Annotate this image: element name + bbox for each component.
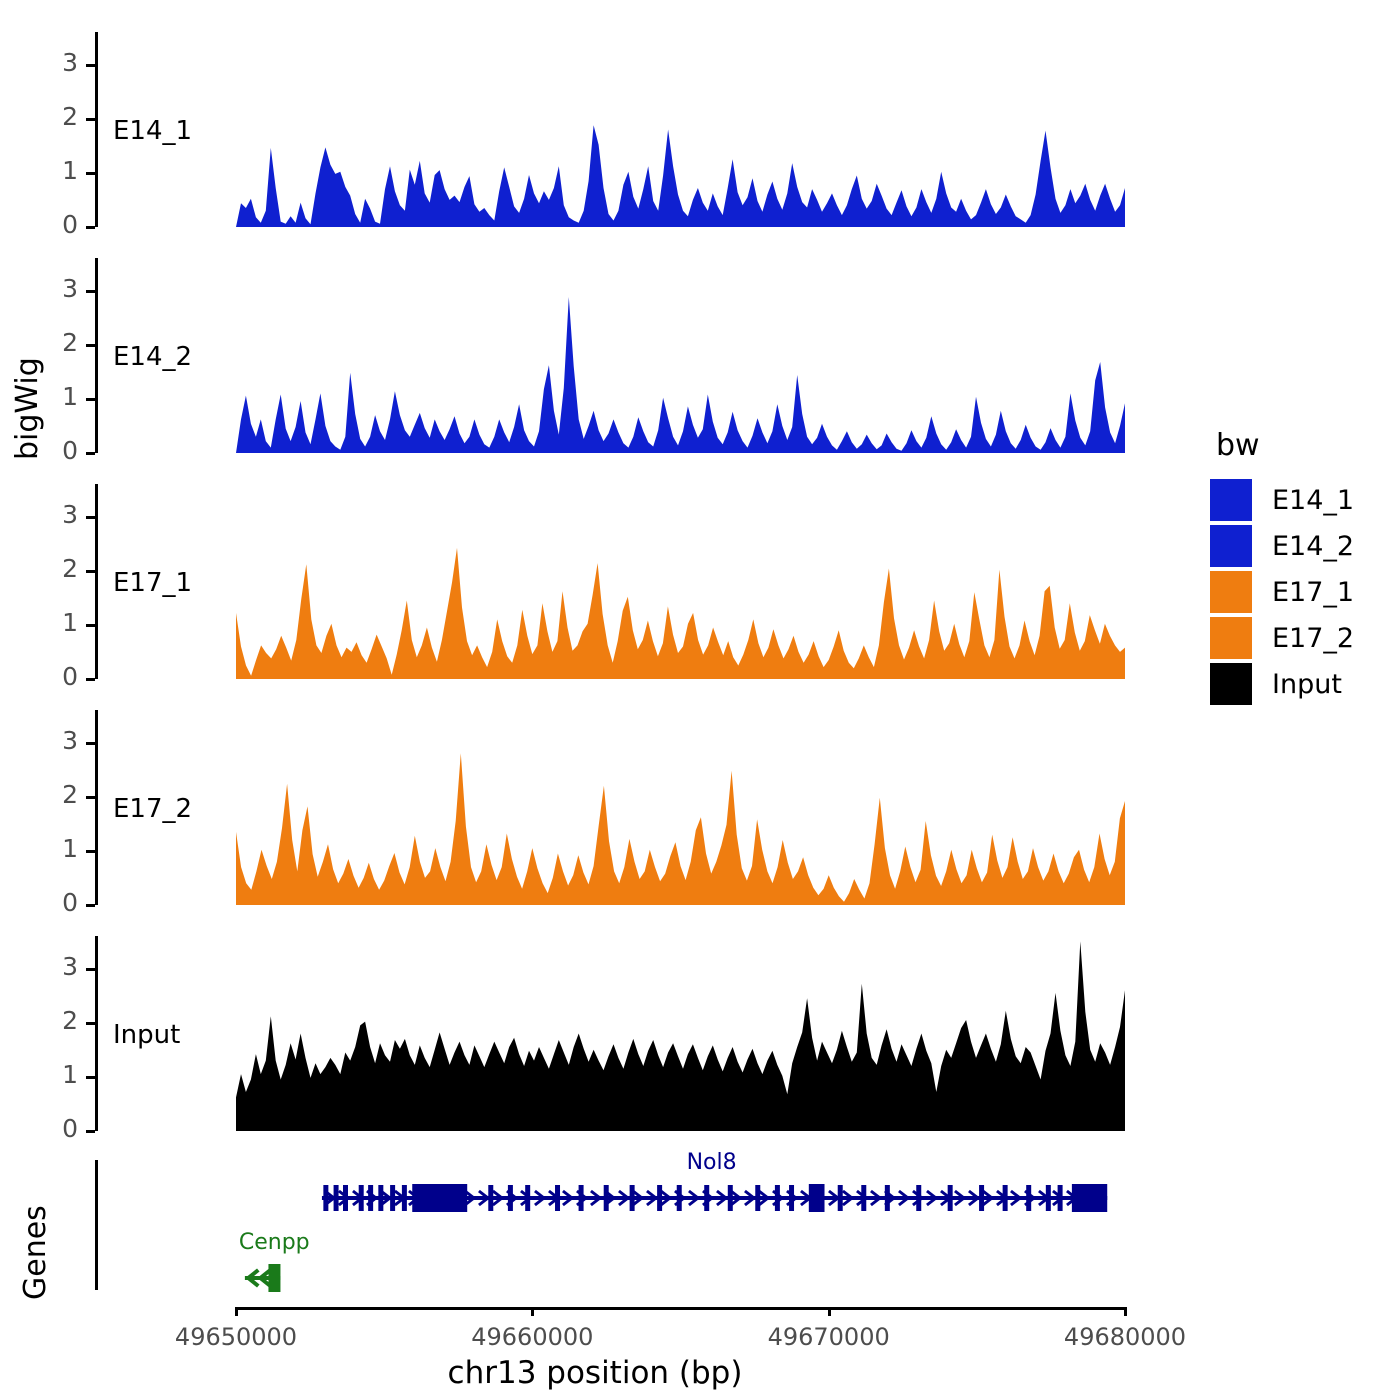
gene-strand-arrow-icon (745, 1191, 754, 1205)
gene-strand-arrow-icon (1081, 1191, 1090, 1205)
gene-strand-arrow-icon (941, 1191, 950, 1205)
gene-strand-arrow-icon (717, 1191, 726, 1205)
gene-strand-arrow-icon (633, 1191, 642, 1205)
legend-title: bw (1216, 428, 1390, 463)
y-tick-mark (86, 904, 95, 907)
x-tick-mark (828, 1307, 831, 1316)
y-tick-label: 0 (33, 662, 78, 691)
y-tick-label: 2 (33, 780, 78, 809)
x-tick-label: 49650000 (136, 1323, 336, 1351)
y-tick-mark (86, 516, 95, 519)
gene-exon-small (390, 1185, 395, 1211)
track-label-e17_2: E17_2 (113, 794, 192, 824)
gene-strand-arrow-icon (248, 1270, 258, 1286)
gene-strand-arrow-icon (1053, 1191, 1062, 1205)
gene-axis-line (95, 1160, 98, 1290)
gene-strand-arrow-icon (437, 1191, 446, 1205)
y-tick-mark (86, 398, 95, 401)
legend-item-e17_2[interactable]: E17_2 (1210, 615, 1390, 661)
gene-strand-arrow-icon (507, 1191, 516, 1205)
track-label-e17_1: E17_1 (113, 568, 192, 598)
gene-strand-arrow-icon (661, 1191, 670, 1205)
gene-strand-arrow-icon (1039, 1191, 1048, 1205)
legend-color-swatch (1210, 479, 1252, 521)
gene-strand-arrow-icon (885, 1191, 894, 1205)
y-tick-mark (86, 968, 95, 971)
x-tick-mark (235, 1307, 238, 1316)
track-label-e14_2: E14_2 (113, 342, 192, 372)
legend-item-e17_1[interactable]: E17_1 (1210, 569, 1390, 615)
genes-axis-label: Genes (18, 1205, 53, 1300)
gene-strand-arrow-icon (367, 1191, 376, 1205)
y-axis-line-e17_2 (95, 710, 98, 905)
gene-strand-arrow-icon (843, 1191, 852, 1205)
gene-exon-block (412, 1184, 467, 1212)
y-tick-label: 0 (33, 210, 78, 239)
gene-strand-arrow-icon (997, 1191, 1006, 1205)
gene-strand-arrow-icon (353, 1191, 362, 1205)
gene-strand-arrow-icon (423, 1191, 432, 1205)
y-tick-label: 3 (33, 48, 78, 77)
y-tick-label: 1 (33, 156, 78, 185)
gene-exon-small (704, 1185, 709, 1211)
gene-strand-arrow-icon (479, 1191, 488, 1205)
y-tick-label: 2 (33, 554, 78, 583)
gene-strand-arrow-icon (409, 1191, 418, 1205)
gene-exon-small (775, 1185, 780, 1211)
y-tick-mark (86, 290, 95, 293)
legend-item-label: Input (1272, 669, 1342, 700)
gene-strand-arrow-icon (675, 1191, 684, 1205)
y-tick-label: 1 (33, 1060, 78, 1089)
gene-strand-arrow-icon (857, 1191, 866, 1205)
y-axis-line-e17_1 (95, 484, 98, 679)
gene-strand-arrow-icon (465, 1191, 474, 1205)
gene-exon-small (508, 1185, 513, 1211)
y-tick-mark (86, 624, 95, 627)
legend: bw E14_1E14_2E17_1E17_2Input (1210, 428, 1390, 707)
gene-exon-block (809, 1184, 825, 1212)
gene-exon-small (343, 1185, 348, 1211)
gene-strand-arrow-icon (731, 1191, 740, 1205)
gene-strand-arrow-icon (605, 1191, 614, 1205)
y-tick-label: 0 (33, 888, 78, 917)
track-area-input (0, 0, 1400, 1400)
y-tick-mark (86, 172, 95, 175)
gene-strand-arrow-icon (689, 1191, 698, 1205)
legend-item-e14_1[interactable]: E14_1 (1210, 477, 1390, 523)
y-tick-label: 0 (33, 1114, 78, 1143)
y-tick-label: 1 (33, 834, 78, 863)
gene-exon-small (861, 1185, 866, 1211)
gene-strand-arrow-icon (535, 1191, 544, 1205)
track-area-fill (236, 548, 1125, 679)
gene-exon-small (579, 1185, 584, 1211)
gene-strand-arrow-icon (325, 1191, 334, 1205)
legend-item-label: E14_1 (1272, 485, 1354, 516)
gene-exon-small (378, 1185, 383, 1211)
track-area-fill (236, 753, 1125, 905)
y-tick-label: 1 (33, 608, 78, 637)
y-tick-label: 0 (33, 436, 78, 465)
y-tick-label: 3 (33, 726, 78, 755)
gene-exon-small (885, 1185, 890, 1211)
gene-strand-arrow-icon (563, 1191, 572, 1205)
gene-strand-arrow-icon (899, 1191, 908, 1205)
y-tick-mark (86, 742, 95, 745)
y-tick-label: 3 (33, 274, 78, 303)
track-area-fill (236, 297, 1125, 453)
gene-exon-small (368, 1185, 373, 1211)
gene-exon-small (1058, 1185, 1063, 1211)
gene-strand-arrow-icon (1067, 1191, 1076, 1205)
legend-color-swatch (1210, 663, 1252, 705)
y-tick-label: 3 (33, 952, 78, 981)
legend-item-e14_2[interactable]: E14_2 (1210, 523, 1390, 569)
gene-strand-arrow-icon (591, 1191, 600, 1205)
track-area-e17_2 (0, 0, 1400, 1400)
x-axis-line (236, 1307, 1125, 1310)
x-tick-mark (1124, 1307, 1127, 1316)
gene-exon-small (1003, 1185, 1008, 1211)
gene-strand-arrow-icon (395, 1191, 404, 1205)
y-tick-mark (86, 796, 95, 799)
gene-exon-block (268, 1264, 280, 1292)
gene-strand-arrow-icon (521, 1191, 530, 1205)
gene-strand-arrow-icon (815, 1191, 824, 1205)
gene-strand-arrow-icon (871, 1191, 880, 1205)
track-area-e14_2 (0, 0, 1400, 1400)
x-tick-label: 49680000 (1025, 1323, 1225, 1351)
gene-exon-small (604, 1185, 609, 1211)
gene-strand-arrow-icon (969, 1191, 978, 1205)
gene-exon-small (789, 1185, 794, 1211)
gene-exon-small (838, 1185, 843, 1211)
x-tick-label: 49660000 (432, 1323, 632, 1351)
gene-strand-arrow-icon (493, 1191, 502, 1205)
legend-item-label: E14_2 (1272, 531, 1354, 562)
y-axis-line-input (95, 936, 98, 1131)
gene-label-nol8[interactable]: Nol8 (687, 1150, 737, 1175)
legend-item-label: E17_2 (1272, 623, 1354, 654)
y-tick-mark (86, 1076, 95, 1079)
y-tick-mark (86, 1022, 95, 1025)
x-tick-mark (531, 1307, 534, 1316)
y-tick-label: 3 (33, 500, 78, 529)
gene-exon-small (334, 1185, 339, 1211)
legend-item-input[interactable]: Input (1210, 661, 1390, 707)
gene-strand-arrow-icon (619, 1191, 628, 1205)
gene-strand-arrow-icon (955, 1191, 964, 1205)
gene-strand-arrow-icon (913, 1191, 922, 1205)
legend-color-swatch (1210, 525, 1252, 567)
gene-strand-arrow-icon (759, 1191, 768, 1205)
gene-strand-arrow-icon (549, 1191, 558, 1205)
y-tick-label: 2 (33, 328, 78, 357)
gene-exon-small (630, 1185, 635, 1211)
gene-exon-small (555, 1185, 560, 1211)
gene-strand-arrow-icon (773, 1191, 782, 1205)
y-tick-mark (86, 570, 95, 573)
gene-strand-arrow-icon (801, 1191, 810, 1205)
x-axis-label: chr13 position (bp) (0, 1355, 1190, 1391)
gene-exon-small (488, 1185, 493, 1211)
gene-strand-arrow-icon (787, 1191, 796, 1205)
track-area-e17_1 (0, 0, 1400, 1400)
gene-exon-small (323, 1185, 328, 1211)
gene-strand-arrow-icon (577, 1191, 586, 1205)
y-tick-mark (86, 344, 95, 347)
gene-strand-arrow-icon (1025, 1191, 1034, 1205)
gene-strand-arrow-icon (260, 1270, 270, 1286)
gene-strand-arrow-icon (983, 1191, 992, 1205)
gene-strand-arrow-icon (703, 1191, 712, 1205)
y-axis-line-e14_1 (95, 32, 98, 227)
gene-exon-small (755, 1185, 760, 1211)
gene-exon-small (916, 1185, 921, 1211)
legend-color-swatch (1210, 571, 1252, 613)
gene-strand-arrow-icon (1011, 1191, 1020, 1205)
track-label-e14_1: E14_1 (113, 116, 192, 146)
gene-exon-small (979, 1185, 984, 1211)
gene-strand-arrow-icon (829, 1191, 838, 1205)
gene-label-cenpp[interactable]: Cenpp (239, 1230, 310, 1255)
x-tick-label: 49670000 (729, 1323, 929, 1351)
gene-strand-arrow-icon (927, 1191, 936, 1205)
gene-exon-small (525, 1185, 530, 1211)
track-area-fill (236, 941, 1125, 1131)
legend-item-label: E17_1 (1272, 577, 1354, 608)
track-area-fill (236, 125, 1125, 227)
axis-labels-layer: bigWig Genes chr13 position (bp) (0, 0, 1400, 1400)
gene-exon-small (677, 1185, 682, 1211)
gene-strand-arrow-icon (451, 1191, 460, 1205)
y-tick-label: 2 (33, 102, 78, 131)
y-tick-mark (86, 678, 95, 681)
gene-exon-small (728, 1185, 733, 1211)
y-axis-line-e14_2 (95, 258, 98, 453)
y-tick-mark (86, 850, 95, 853)
y-tick-mark (86, 64, 95, 67)
gene-exon-small (657, 1185, 662, 1211)
genome-browser-figure: bigWig Genes chr13 position (bp) 0123E14… (0, 0, 1400, 1400)
gene-strand-arrow-icon (647, 1191, 656, 1205)
y-tick-label: 2 (33, 1006, 78, 1035)
gene-models-svg (0, 0, 1400, 1400)
y-tick-mark (86, 452, 95, 455)
y-tick-mark (86, 118, 95, 121)
legend-color-swatch (1210, 617, 1252, 659)
gene-strand-arrow-icon (381, 1191, 390, 1205)
gene-exon-small (948, 1185, 953, 1211)
y-tick-mark (86, 226, 95, 229)
gene-exon-small (1046, 1185, 1051, 1211)
track-label-input: Input (113, 1020, 180, 1050)
gene-exon-small (359, 1185, 364, 1211)
gene-exon-small (402, 1185, 407, 1211)
gene-exon-block (1072, 1184, 1107, 1212)
y-tick-label: 1 (33, 382, 78, 411)
legend-rows: E14_1E14_2E17_1E17_2Input (1210, 477, 1390, 707)
gene-exon-small (1026, 1185, 1031, 1211)
y-tick-mark (86, 1130, 95, 1133)
gene-strand-arrow-icon (339, 1191, 348, 1205)
track-area-e14_1 (0, 0, 1400, 1400)
